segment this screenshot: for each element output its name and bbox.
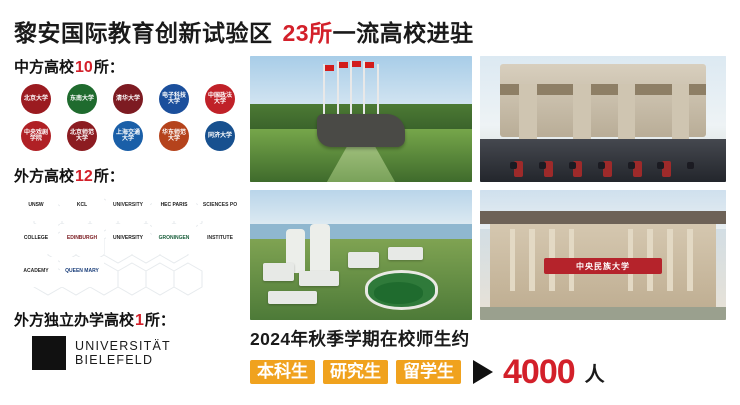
university-logo-icon: 华东师范大学 [159, 121, 189, 151]
photo-grid: 中央民族大学 [250, 56, 726, 320]
chinese-count: 10 [74, 59, 94, 77]
list-item[interactable]: INSTITUTE [198, 224, 242, 254]
independent-section-heading: 外方独立办学高校 1 所： [14, 309, 242, 330]
list-item[interactable]: HEC PARIS [152, 191, 196, 221]
campus-building [268, 291, 317, 304]
flagpole-icon [363, 61, 365, 116]
campus-lawn-sculpture-photo [250, 56, 472, 182]
gate-pillar [672, 84, 689, 147]
foreign-university-logo-grid: UNSW KCL UNIVERSITY HEC PARIS SCIENCES P… [14, 191, 242, 287]
bielefeld-wordmark: UNIVERSITÄT BIELEFELD [75, 339, 171, 367]
bottom-stats-banner: 2024年秋季学期在校师生约 本科生 研究生 留学生 4000 人 [250, 326, 726, 392]
list-item[interactable]: GRONINGEN [152, 224, 196, 254]
list-item[interactable]: 清华大学 [106, 82, 150, 116]
red-flag-icon [365, 62, 374, 68]
independent-label-after: 所： [145, 309, 175, 330]
mortarboard-icon [657, 162, 664, 169]
red-flag-icon [325, 65, 334, 71]
campus-building [348, 252, 379, 268]
bielefeld-line1: UNIVERSITÄT [75, 339, 171, 353]
list-item[interactable]: UNSW [14, 191, 58, 221]
foreign-count: 12 [74, 168, 94, 186]
mortarboard-icon [510, 162, 517, 169]
page-title: 黎安国际教育创新试验区 23所 一流高校进驻 [14, 14, 726, 48]
right-arrow-icon [473, 360, 493, 384]
university-logo-icon: SCIENCES PO [200, 196, 240, 216]
foreign-label-after: 所： [94, 165, 124, 186]
flagpole-icon [377, 64, 379, 117]
title-highlight: 23所 [283, 14, 333, 48]
chinese-university-logo-grid: 北京大学 东南大学 清华大学 电子科技大学 中国政法大学 中央戏剧学院 北京师范… [14, 82, 242, 153]
flagpole-icon [350, 60, 352, 117]
university-logo-icon: EDINBURGH [62, 229, 102, 249]
ground-area [480, 307, 726, 320]
red-flag-icon [339, 62, 348, 68]
list-item[interactable]: 中国政法大学 [198, 82, 242, 116]
stone-monument-icon [317, 114, 406, 147]
bielefeld-line2: BIELEFELD [75, 353, 171, 367]
bottom-tags-row: 本科生 研究生 留学生 4000 人 [250, 355, 726, 389]
bielefeld-square-icon [32, 336, 66, 370]
gate-pillar [618, 84, 635, 147]
left-column: 中方高校 10 所： 北京大学 东南大学 清华大学 电子科技大学 中国政法大学 … [14, 56, 242, 392]
university-logo-icon: GRONINGEN [154, 229, 194, 249]
bielefeld-logo[interactable]: UNIVERSITÄT BIELEFELD [14, 336, 242, 370]
building-roof [480, 211, 726, 224]
list-item[interactable]: 华东师范大学 [152, 119, 196, 153]
university-logo-icon: COLLEGE [16, 229, 56, 249]
tower-building [310, 224, 330, 273]
list-item[interactable]: 电子科技大学 [152, 82, 196, 116]
university-logo-icon: KCL [62, 196, 102, 216]
list-item[interactable]: 东南大学 [60, 82, 104, 116]
list-item[interactable]: ACADEMY [14, 257, 58, 287]
university-logo-icon: UNIVERSITY [108, 196, 148, 216]
university-logo-icon: 清华大学 [113, 84, 143, 114]
student-count-number: 4000 [503, 355, 575, 389]
list-item[interactable]: SCIENCES PO [198, 191, 242, 221]
university-logo-icon: QUEEN MARY [62, 262, 102, 282]
bottom-headline: 2024年秋季学期在校师生约 [250, 326, 726, 351]
flagpole-icon [323, 64, 325, 117]
campus-building [299, 271, 339, 287]
building-with-red-sign-photo: 中央民族大学 [480, 190, 726, 320]
facade-column [510, 229, 516, 291]
facade-column [529, 229, 535, 291]
flagpole-icon [337, 61, 339, 116]
list-item[interactable]: QUEEN MARY [60, 257, 104, 287]
title-prefix: 黎安国际教育创新试验区 [14, 14, 273, 48]
university-gate-graduates-photo [480, 56, 726, 182]
mortarboard-icon [539, 162, 546, 169]
facade-column [687, 229, 693, 291]
status-badge-postgraduate[interactable]: 研究生 [323, 360, 388, 385]
university-logo-icon: 上海交通大学 [113, 121, 143, 151]
list-item[interactable]: 北京师范大学 [60, 119, 104, 153]
independent-count: 1 [134, 312, 145, 330]
university-logo-icon: 北京大学 [21, 84, 51, 114]
foreign-label-before: 外方高校 [14, 165, 74, 186]
list-item[interactable]: 上海交通大学 [106, 119, 150, 153]
list-item[interactable]: UNIVERSITY [106, 224, 150, 254]
gate-pillar [573, 84, 590, 147]
list-item[interactable]: COLLEGE [14, 224, 58, 254]
student-count-unit: 人 [585, 358, 605, 387]
chinese-section-heading: 中方高校 10 所： [14, 56, 242, 77]
mortarboard-icon [569, 162, 576, 169]
mortarboard-icon [687, 162, 694, 169]
university-logo-icon: UNSW [16, 196, 56, 216]
sky-area [250, 190, 472, 224]
list-item[interactable]: 中央戏剧学院 [14, 119, 58, 153]
university-logo-icon: ACADEMY [16, 262, 56, 282]
facade-column [667, 229, 673, 291]
status-badge-undergraduate[interactable]: 本科生 [250, 360, 315, 385]
list-item[interactable]: 北京大学 [14, 82, 58, 116]
slide-root: 黎安国际教育创新试验区 23所 一流高校进驻 中方高校 10 所： 北京大学 东… [0, 0, 740, 405]
aerial-campus-stadium-photo [250, 190, 472, 320]
mortarboard-icon [628, 162, 635, 169]
university-logo-icon: UNIVERSITY [108, 229, 148, 249]
title-suffix: 一流高校进驻 [333, 14, 474, 48]
list-item[interactable]: 同济大学 [198, 119, 242, 153]
foreign-university-logo-area: UNSW KCL UNIVERSITY HEC PARIS SCIENCES P… [14, 191, 242, 303]
campus-building [263, 263, 294, 281]
mortarboard-icon [598, 162, 605, 169]
university-logo-icon: 中央戏剧学院 [21, 121, 51, 151]
list-item[interactable]: UNIVERSITY [106, 191, 150, 221]
university-logo-icon: 北京师范大学 [67, 121, 97, 151]
campus-building [388, 247, 424, 260]
chinese-label-after: 所： [94, 56, 124, 77]
university-logo-icon: 中国政法大学 [205, 84, 235, 114]
building-name-text: 中央民族大学 [576, 261, 630, 272]
university-logo-icon: 电子科技大学 [159, 84, 189, 114]
university-logo-icon: 东南大学 [67, 84, 97, 114]
chinese-label-before: 中方高校 [14, 56, 74, 77]
red-flag-icon [352, 61, 361, 67]
independent-label-before: 外方独立办学高校 [14, 309, 134, 330]
university-logo-icon: 同济大学 [205, 121, 235, 151]
status-badge-international[interactable]: 留学生 [396, 360, 461, 385]
list-item[interactable]: KCL [60, 191, 104, 221]
list-item[interactable]: EDINBURGH [60, 224, 104, 254]
university-logo-icon: INSTITUTE [200, 229, 240, 249]
gate-pillar [519, 84, 536, 147]
building-name-sign: 中央民族大学 [544, 258, 662, 275]
university-logo-icon: HEC PARIS [154, 196, 194, 216]
foreign-section-heading: 外方高校 12 所： [14, 165, 242, 186]
